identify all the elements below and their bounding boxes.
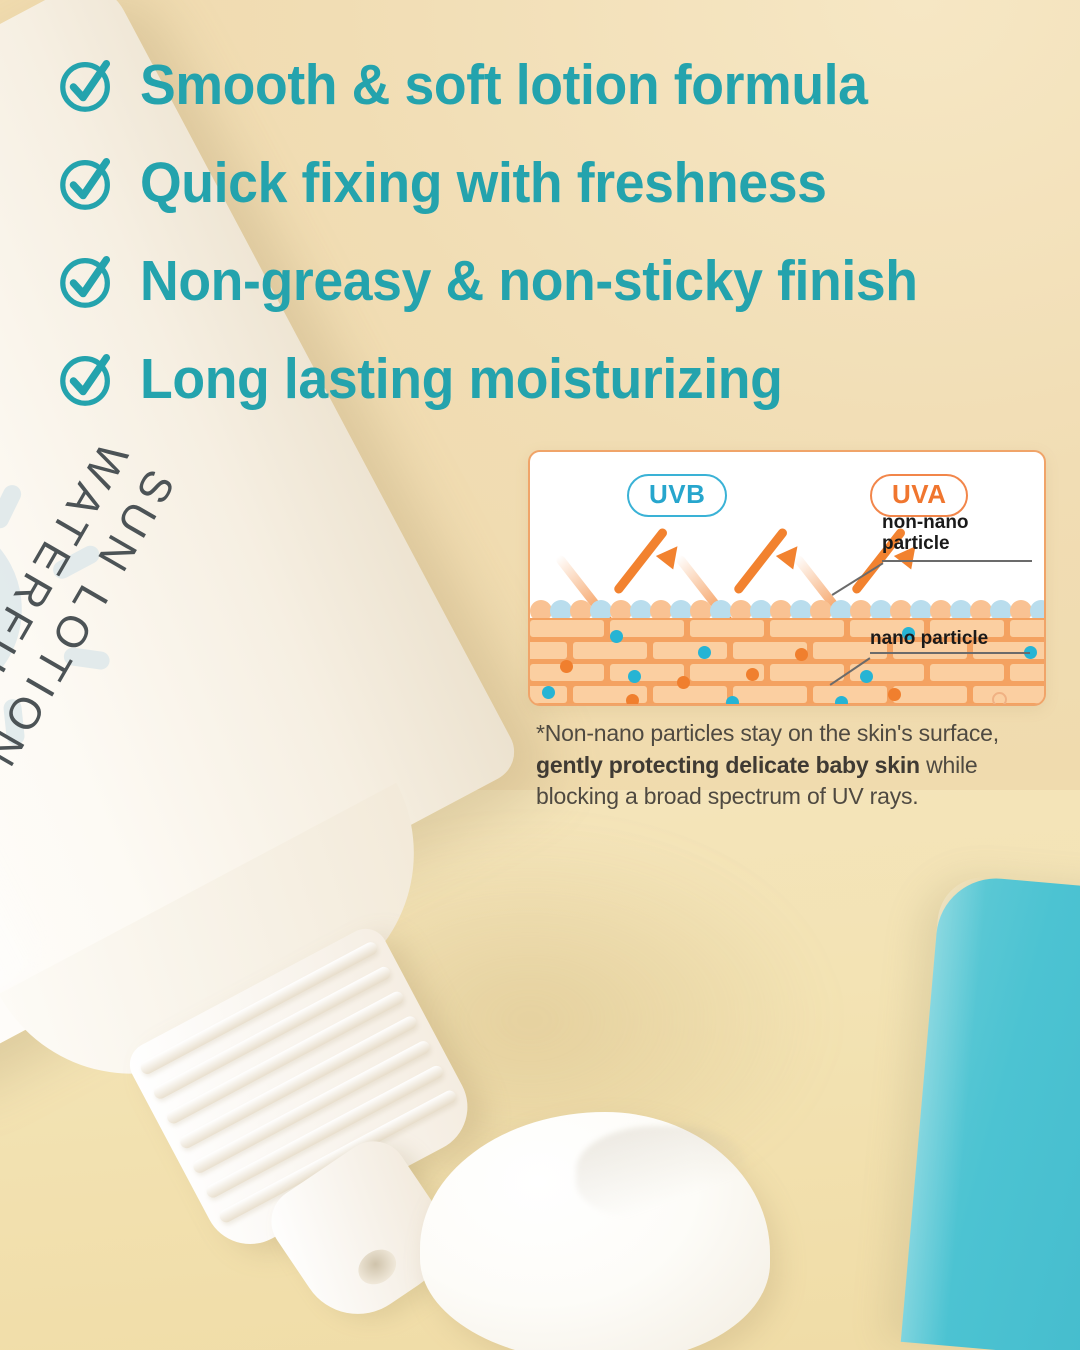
label-underline — [882, 560, 1032, 562]
list-item: Smooth & soft lotion formula — [56, 46, 1056, 124]
diagram-caption: *Non-nano particles stay on the skin's s… — [536, 718, 1041, 813]
brick-row — [530, 662, 1044, 684]
brick — [610, 664, 684, 681]
brick — [930, 664, 1004, 681]
bottle-wordmark: SUN LOTIONWATERFULL — [0, 434, 186, 781]
non-nano-particle-label: non-nanoparticle — [882, 512, 969, 555]
brick — [530, 642, 567, 659]
uv-ray-bounce — [560, 522, 680, 604]
nano-particle — [628, 670, 641, 683]
nano-particle — [746, 668, 759, 681]
brick — [770, 664, 844, 681]
feature-label: Long lasting moisturizing — [140, 351, 782, 408]
nano-particle — [835, 696, 848, 704]
brick-row — [530, 684, 1044, 704]
nano-particle — [542, 686, 555, 699]
nano-particle — [888, 688, 901, 701]
nano-particle — [610, 630, 623, 643]
nano-particle — [677, 676, 690, 689]
caption-part3: blocking a broad spectrum of UV rays. — [536, 783, 919, 809]
uv-ray-bounce — [680, 522, 800, 604]
sun-ray-icon — [0, 482, 24, 531]
caption-part1: *Non-nano particles stay on the skin's s… — [536, 720, 999, 746]
label-underline — [870, 652, 1030, 654]
check-circle-icon — [56, 152, 118, 214]
caption-part2: while — [920, 752, 978, 778]
list-item: Non-greasy & non-sticky finish — [56, 242, 1056, 320]
nano-particle — [626, 694, 639, 704]
brick — [653, 686, 727, 703]
nano-particle — [860, 670, 873, 683]
caption-bold: gently protecting delicate baby skin — [536, 752, 920, 778]
nano-particle — [726, 696, 739, 704]
brick — [1010, 664, 1044, 681]
feature-list: Smooth & soft lotion formula Quick fixin… — [56, 46, 1056, 438]
product-marketing-image: SUN LOTIONWATERFULL Smooth & soft lotio — [0, 0, 1080, 1350]
nano-particle — [698, 646, 711, 659]
brick — [1010, 620, 1044, 637]
list-item: Quick fixing with freshness — [56, 144, 1056, 222]
check-circle-icon — [56, 250, 118, 312]
feature-label: Smooth & soft lotion formula — [140, 57, 868, 114]
list-item: Long lasting moisturizing — [56, 340, 1056, 418]
brick — [653, 642, 727, 659]
uv-protection-diagram: UVB UVA non-nanoparticle nano particle — [528, 450, 1046, 706]
brick — [770, 620, 844, 637]
brick — [973, 686, 1044, 703]
nano-particle — [560, 660, 573, 673]
nano-particle-label: nano particle — [870, 628, 988, 649]
check-circle-icon — [56, 348, 118, 410]
nano-particle — [795, 648, 808, 661]
check-circle-icon — [56, 54, 118, 116]
brick — [893, 686, 967, 703]
feature-label: Quick fixing with freshness — [140, 155, 827, 212]
brick — [573, 642, 647, 659]
brick — [530, 620, 604, 637]
brick — [690, 620, 764, 637]
brick — [733, 686, 807, 703]
brick — [813, 686, 887, 703]
uva-badge: UVA — [870, 474, 968, 517]
feature-label: Non-greasy & non-sticky finish — [140, 253, 918, 310]
uvb-badge: UVB — [627, 474, 727, 517]
nano-particle — [992, 692, 1007, 704]
